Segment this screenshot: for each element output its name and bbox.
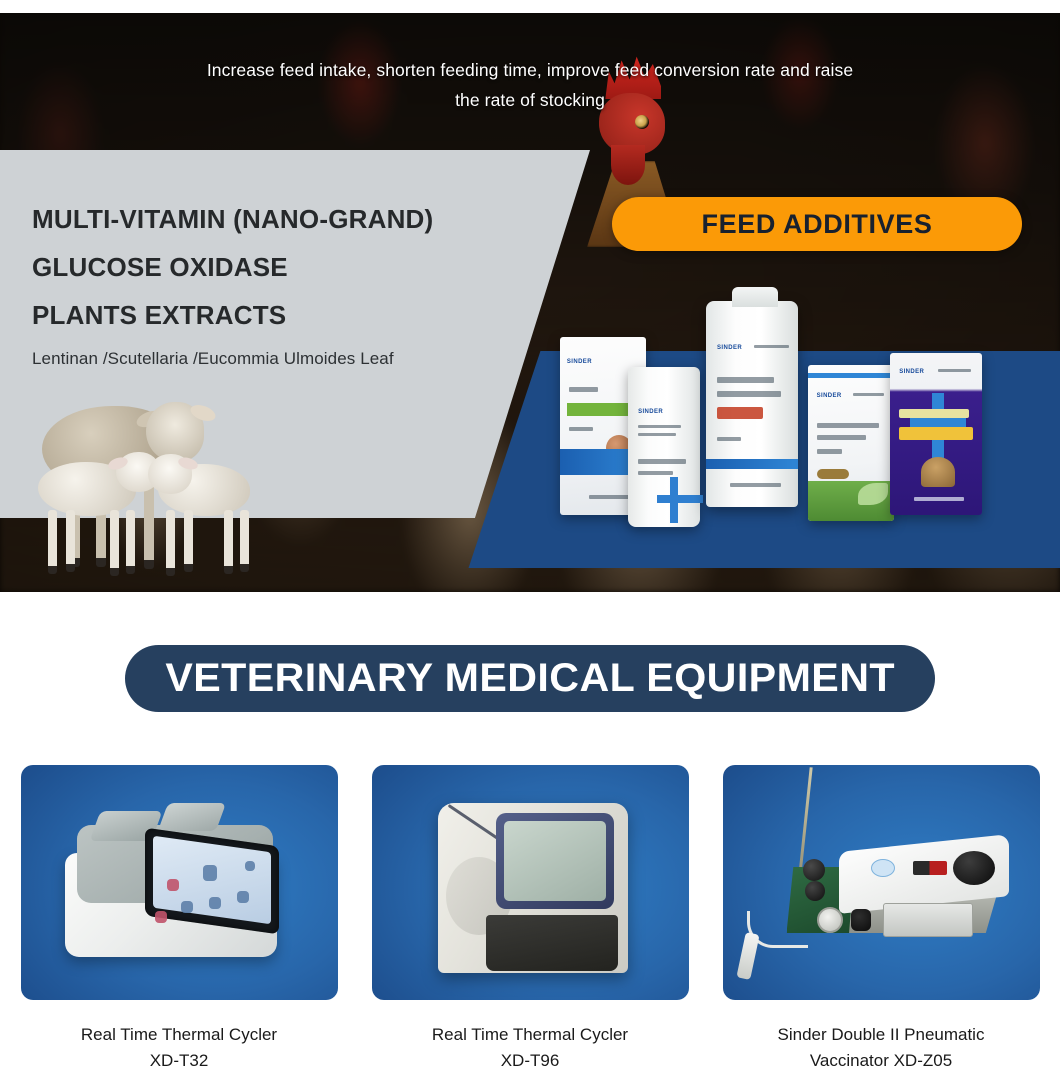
bottle-cn-line-1 (638, 425, 681, 428)
bottle-cross-horizontal (657, 495, 703, 503)
equipment-name-2-line-1: Real Time Thermal Cycler (372, 1022, 689, 1048)
pouch-cn-line-3 (817, 449, 843, 454)
equipment-card-list: Real Time Thermal Cycler XD-T32 Real Tim… (0, 765, 1060, 1074)
lamb-left-leg-1 (48, 510, 57, 570)
purple-mushroom-icon (921, 457, 955, 487)
product-brand-jug: SINDER (717, 345, 742, 351)
equipment-caption-1: Real Time Thermal Cycler XD-T32 (21, 1022, 338, 1074)
hero-headline-3: PLANTS EXTRACTS (32, 302, 532, 328)
lamb-left-hoof-1 (48, 566, 57, 574)
t96-screen (504, 821, 606, 901)
sheep-illustration (18, 396, 288, 592)
thermal-cycler-t96-illustration (424, 791, 640, 981)
vaccinator-logo-badge (871, 859, 895, 877)
equipment-name-1-line-1: Real Time Thermal Cycler (21, 1022, 338, 1048)
product-brand-purple: SINDER (899, 369, 924, 375)
vaccinator-port (851, 909, 871, 931)
product-bottle: SINDER (628, 367, 700, 527)
vaccinator-red-label (913, 861, 947, 875)
lamb-left-hoof-2 (66, 564, 75, 572)
t32-screen-icon-4 (181, 901, 193, 913)
jug-cn-line-2 (717, 391, 781, 397)
pouch-weight-tag (817, 469, 849, 479)
section-title-bar: VETERINARY MEDICAL EQUIPMENT (125, 645, 935, 712)
pneumatic-vaccinator-illustration (743, 807, 1023, 967)
product-brand-sachet: SINDER (567, 359, 592, 365)
equipment-card-3[interactable]: Sinder Double II Pneumatic Vaccinator XD… (723, 765, 1040, 1074)
equipment-name-3-line-1: Sinder Double II Pneumatic (723, 1022, 1040, 1048)
hero-banner: Increase feed intake, shorten feeding ti… (0, 13, 1060, 592)
lamb-left-leg-2 (66, 510, 75, 568)
ewe-hoof-2 (96, 558, 106, 567)
pouch-cn-line-0 (853, 393, 884, 396)
jug-red-title (717, 407, 763, 419)
product-pouch: SINDER (808, 365, 894, 521)
feed-additives-badge[interactable]: FEED ADDITIVES (612, 197, 1022, 251)
hero-headline-2: GLUCOSE OXIDASE (32, 254, 532, 280)
t96-drawer (486, 915, 618, 971)
lamb-right-hoof-1 (166, 568, 175, 576)
rooster-eye (635, 115, 649, 129)
hero-caption-line-1: Increase feed intake, shorten feeding ti… (0, 55, 1060, 85)
lamb-right-leg-4 (240, 510, 249, 568)
equipment-card-2[interactable]: Real Time Thermal Cycler XD-T96 (372, 765, 689, 1074)
bottle-cn-line-3 (638, 459, 686, 464)
vaccinator-knob-lower (805, 881, 825, 901)
hero-caption: Increase feed intake, shorten feeding ti… (0, 55, 1060, 115)
product-brand-bottle: SINDER (638, 409, 663, 415)
lamb-left-hoof-3 (110, 568, 119, 576)
equipment-name-3-line-2: Vaccinator XD-Z05 (723, 1048, 1040, 1074)
pouch-cn-line-1 (817, 423, 879, 428)
lamb-left-leg-4 (126, 510, 135, 570)
equipment-name-2-line-2: XD-T96 (372, 1048, 689, 1074)
equipment-caption-2: Real Time Thermal Cycler XD-T96 (372, 1022, 689, 1074)
hero-subline: Lentinan /Scutellaria /Eucommia Ulmoides… (32, 350, 532, 367)
rooster-wattle (611, 145, 645, 185)
sachet-green-band (567, 403, 638, 416)
vaccinator-pressure-gauge (817, 907, 843, 933)
feed-additives-badge-label: FEED ADDITIVES (702, 209, 933, 240)
pouch-top-stripe (808, 373, 894, 378)
section-title-text: VETERINARY MEDICAL EQUIPMENT (165, 656, 895, 701)
hero-headline-1: MULTI-VITAMIN (NANO-GRAND) (32, 206, 532, 232)
hero-caption-line-2: the rate of stocking (0, 85, 1060, 115)
lamb-right-hoof-4 (240, 564, 249, 572)
jug-cn-line-3 (717, 437, 741, 441)
ewe-leg-3 (144, 484, 154, 564)
sachet-cn-line-2 (569, 427, 593, 431)
purple-cn-footer (914, 497, 964, 501)
sachet-cn-line-1 (569, 387, 598, 392)
t32-screen-icon-7 (155, 911, 167, 923)
lamb-left-hoof-4 (126, 566, 135, 574)
jug-cn-line-1 (717, 377, 774, 383)
t32-lid-right (157, 803, 225, 831)
feed-additive-products-group: SINDER SINDER SINDER (560, 301, 1040, 527)
t32-screen-icon-5 (209, 897, 221, 909)
bottle-cn-line-2 (638, 433, 675, 436)
lamb-right-leg-3 (224, 510, 233, 570)
vaccinator-large-knob (953, 851, 995, 885)
purple-cn-title-2 (899, 427, 973, 440)
lamb-right-leg-2 (184, 510, 193, 568)
lamb-right-hoof-2 (184, 564, 193, 572)
t32-screen-icon-1 (203, 865, 217, 881)
vaccinator-control-panel (883, 903, 973, 937)
lamb-right-leg-1 (166, 510, 175, 572)
t32-screen-icon-3 (245, 861, 255, 871)
pouch-cn-line-2 (817, 435, 867, 440)
jug-cn-line-0 (754, 345, 789, 348)
bottle-cn-line-4 (638, 471, 673, 475)
product-purple-pack: SINDER (890, 353, 982, 515)
equipment-image-2[interactable] (372, 765, 689, 1000)
equipment-card-1[interactable]: Real Time Thermal Cycler XD-T32 (21, 765, 338, 1074)
thermal-cycler-t32-illustration (59, 803, 303, 961)
jug-handle (732, 287, 778, 307)
equipment-caption-3: Sinder Double II Pneumatic Vaccinator XD… (723, 1022, 1040, 1074)
t32-screen-icon-2 (167, 879, 179, 891)
product-brand-pouch: SINDER (817, 393, 842, 399)
purple-cn-title-1 (899, 409, 969, 418)
equipment-name-1-line-2: XD-T32 (21, 1048, 338, 1074)
equipment-image-3[interactable] (723, 765, 1040, 1000)
lamb-left-leg-3 (110, 510, 119, 572)
equipment-image-1[interactable] (21, 765, 338, 1000)
ewe-hoof-3 (144, 560, 154, 569)
purple-cn-line-0 (938, 369, 971, 372)
vaccinator-knob-upper (803, 859, 825, 881)
t32-screen-icon-6 (237, 891, 249, 903)
vaccinator-gun (736, 932, 759, 980)
product-jug: SINDER (706, 301, 798, 507)
jug-cn-footer (730, 483, 782, 487)
hero-text-block: MULTI-VITAMIN (NANO-GRAND) GLUCOSE OXIDA… (32, 206, 532, 367)
jug-blue-band (706, 459, 798, 469)
lamb-right-hoof-3 (224, 566, 233, 574)
